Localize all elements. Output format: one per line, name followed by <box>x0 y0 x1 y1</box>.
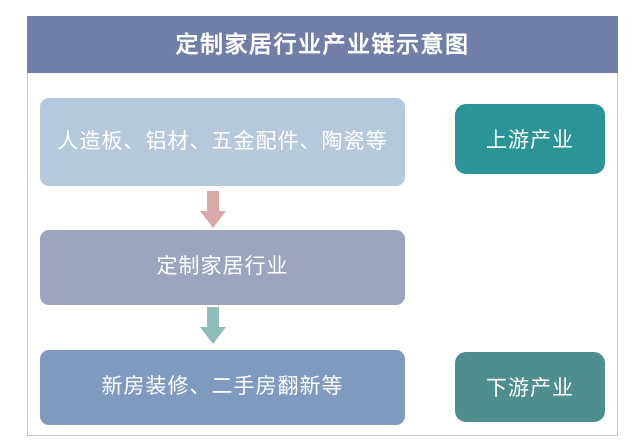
page-title: 定制家居行业产业链示意图 <box>176 33 470 56</box>
chain-node-core-label: 定制家居行业 <box>157 252 289 282</box>
stage-badge-upstream: 上游产业 <box>455 104 605 174</box>
diagram-canvas: 定制家居行业产业链示意图 人造板、铝材、五金配件、陶瓷等 定制家居行业 新房装修… <box>0 0 640 446</box>
chain-node-downstream: 新房装修、二手房翻新等 <box>40 350 405 425</box>
chain-node-upstream: 人造板、铝材、五金配件、陶瓷等 <box>40 98 405 186</box>
stage-badge-downstream-label: 下游产业 <box>486 372 574 402</box>
down-arrow-icon-core-to-downstream <box>199 307 227 345</box>
stage-badge-upstream-label: 上游产业 <box>486 124 574 154</box>
chain-node-core: 定制家居行业 <box>40 230 405 305</box>
diagram-title-bar: 定制家居行业产业链示意图 <box>27 16 618 73</box>
chain-node-downstream-label: 新房装修、二手房翻新等 <box>102 372 344 402</box>
down-arrow-icon-upstream-to-core <box>199 191 227 229</box>
stage-badge-downstream: 下游产业 <box>455 352 605 422</box>
chain-node-upstream-label: 人造板、铝材、五金配件、陶瓷等 <box>58 127 388 157</box>
